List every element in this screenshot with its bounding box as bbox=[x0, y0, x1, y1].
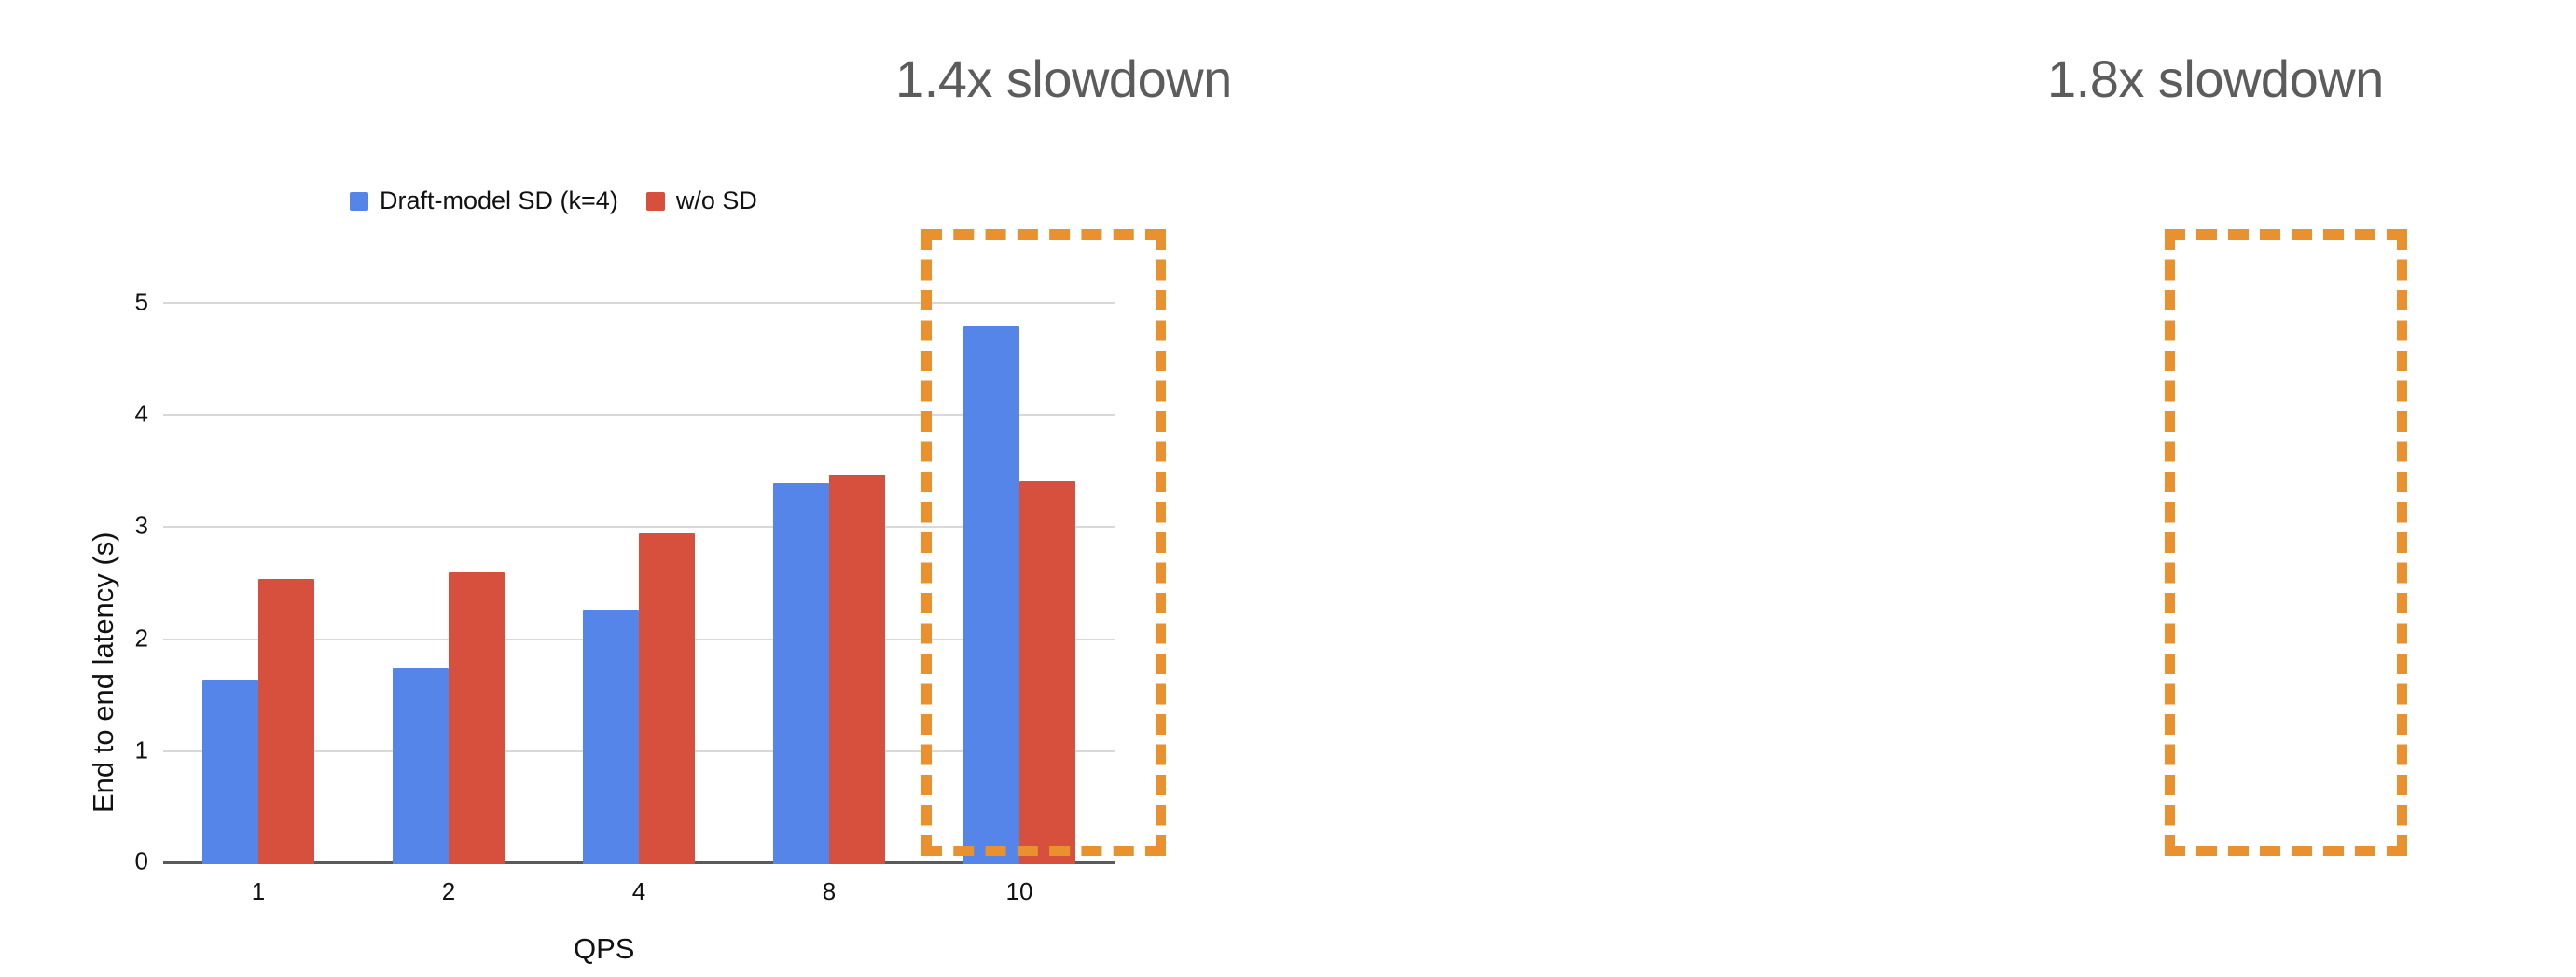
bar bbox=[963, 326, 1019, 864]
x-axis-title-left: QPS bbox=[574, 932, 634, 966]
legend-left: Draft-model SD (k=4) w/o SD bbox=[350, 186, 757, 215]
bars-layer: 124810 bbox=[163, 304, 1115, 864]
bar bbox=[829, 475, 885, 864]
legend-item-wo-sd: w/o SD bbox=[646, 186, 757, 215]
x-tick-label: 8 bbox=[823, 877, 836, 906]
bar-group: 2 bbox=[353, 304, 544, 864]
chart-panel-left: 1.4x slowdown End to end latency (s) Dra… bbox=[0, 0, 1288, 912]
bar bbox=[393, 668, 449, 864]
chart-panel-right: End to end latency (s) Ngram SD (k=4) w/… bbox=[1288, 0, 2576, 912]
bar bbox=[583, 610, 639, 864]
bar-group: 1 bbox=[163, 304, 353, 864]
x-tick-label: 10 bbox=[1006, 877, 1033, 906]
slide-title-right: 1.8x slowdown bbox=[2047, 48, 2384, 109]
plot-area-left: 012345124810 bbox=[163, 304, 1115, 864]
legend-label-draft-model-sd: Draft-model SD (k=4) bbox=[380, 186, 618, 215]
bar-group: 4 bbox=[544, 304, 734, 864]
y-tick-label: 3 bbox=[135, 512, 148, 541]
bar-group: 8 bbox=[734, 304, 924, 864]
bar-chart-left: End to end latency (s) Draft-model SD (k… bbox=[51, 186, 1152, 858]
slide-title-left: 1.4x slowdown bbox=[895, 48, 1232, 109]
y-tick-label: 5 bbox=[135, 288, 148, 317]
legend-swatch-blue-icon bbox=[350, 192, 368, 211]
legend-label-wo-sd: w/o SD bbox=[676, 186, 757, 215]
bar bbox=[773, 483, 829, 864]
bar bbox=[1019, 481, 1075, 864]
bar-group: 10 bbox=[924, 304, 1115, 864]
bar bbox=[449, 572, 505, 864]
bar bbox=[258, 579, 314, 865]
x-tick-label: 1 bbox=[252, 877, 265, 906]
y-axis-title-left: End to end latency (s) bbox=[87, 531, 120, 813]
bar bbox=[639, 533, 695, 864]
y-tick-label: 0 bbox=[135, 847, 148, 876]
y-tick-label: 2 bbox=[135, 624, 148, 653]
x-tick-label: 4 bbox=[632, 877, 645, 906]
y-tick-label: 4 bbox=[135, 400, 148, 429]
y-tick-label: 1 bbox=[135, 736, 148, 764]
bar bbox=[202, 680, 258, 864]
legend-swatch-red-icon bbox=[646, 192, 665, 211]
legend-item-draft-model-sd: Draft-model SD (k=4) bbox=[350, 186, 618, 215]
x-tick-label: 2 bbox=[442, 877, 455, 906]
